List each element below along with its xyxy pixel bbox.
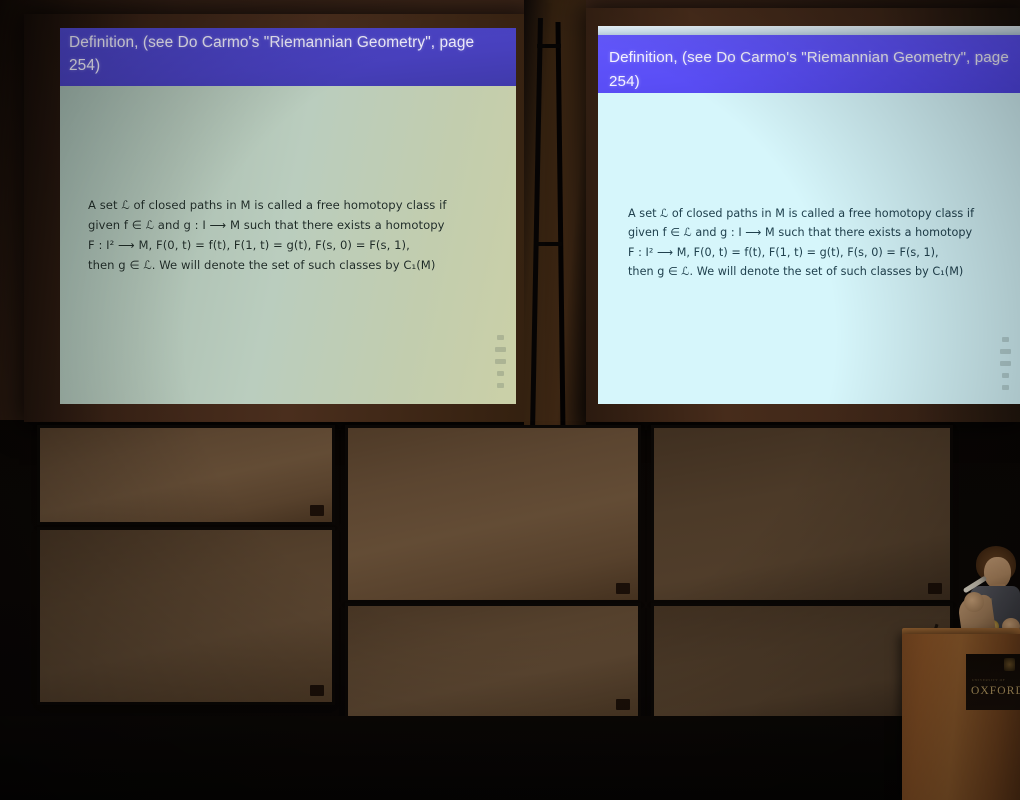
- left-slide-body-line-1: A set ℒ of closed paths in M is called a…: [88, 196, 460, 216]
- last-slide-icon-right[interactable]: [1002, 373, 1009, 378]
- presenter-hand: [964, 592, 984, 612]
- next-slide-icon-right[interactable]: [1000, 361, 1011, 366]
- oxford-sign-word: OXFORD: [971, 685, 1020, 697]
- first-slide-icon[interactable]: [497, 335, 504, 340]
- board-tab-icon: [310, 505, 324, 516]
- prev-slide-icon-right[interactable]: [1000, 349, 1011, 354]
- beamer-logo-icon[interactable]: [497, 383, 504, 388]
- left-slide-body-line-4: then g ∈ ℒ. We will denote the set of su…: [88, 256, 460, 276]
- right-slide-top-strip: [598, 26, 1020, 35]
- right-slide-body: A set ℒ of closed paths in M is called a…: [628, 204, 978, 282]
- left-slide-body: A set ℒ of closed paths in M is called a…: [88, 196, 460, 276]
- left-slide-body-line-3: F : I² ⟶ M, F(0, t) = f(t), F(1, t) = g(…: [88, 236, 460, 256]
- right-slide-body-line-2: given f ∈ ℒ and g : I ⟶ M such that ther…: [628, 223, 978, 242]
- board-center-lower: [348, 606, 638, 716]
- pillar-bracket-bottom: [536, 242, 562, 246]
- center-wall-pillar: [524, 0, 586, 430]
- floor: [0, 716, 1020, 800]
- left-screen-surface: Definition, (see Do Carmo's "Riemannian …: [60, 28, 516, 404]
- right-slide: Definition, (see Do Carmo's "Riemannian …: [598, 26, 1020, 404]
- board-tab-icon: [310, 685, 324, 696]
- board-tab-icon: [616, 583, 630, 594]
- oxford-crest-icon: [1004, 658, 1015, 671]
- left-slide-titlebar: Definition, (see Do Carmo's "Riemannian …: [60, 28, 516, 86]
- next-slide-icon[interactable]: [495, 359, 506, 364]
- left-slide: Definition, (see Do Carmo's "Riemannian …: [60, 28, 516, 404]
- left-slide-title: Definition, (see Do Carmo's "Riemannian …: [69, 31, 499, 78]
- beamer-logo-icon-right[interactable]: [1002, 385, 1009, 390]
- oxford-sign-subtext: UNIVERSITY OF: [972, 678, 1018, 682]
- board-left-upper: [40, 428, 332, 522]
- board-tab-icon: [616, 699, 630, 710]
- right-slide-body-line-1: A set ℒ of closed paths in M is called a…: [628, 204, 978, 223]
- right-screen-frame: Definition, (see Do Carmo's "Riemannian …: [586, 8, 1020, 422]
- right-slide-body-line-4: then g ∈ ℒ. We will denote the set of su…: [628, 262, 978, 281]
- pillar-bracket-top: [537, 44, 561, 48]
- first-slide-icon-right[interactable]: [1002, 337, 1009, 342]
- pillar-edge-left: [530, 18, 543, 430]
- pillar-edge-right: [556, 22, 566, 430]
- right-screen-surface: Definition, (see Do Carmo's "Riemannian …: [598, 26, 1020, 404]
- board-center-upper: [348, 428, 638, 600]
- oxford-sign: UNIVERSITY OF OXFORD: [966, 654, 1020, 710]
- last-slide-icon[interactable]: [497, 371, 504, 376]
- right-slide-body-line-3: F : I² ⟶ M, F(0, t) = f(t), F(1, t) = g(…: [628, 243, 978, 262]
- left-screen-frame: Definition, (see Do Carmo's "Riemannian …: [24, 14, 532, 422]
- board-right-upper: [654, 428, 950, 600]
- lecture-hall-scene: Definition, (see Do Carmo's "Riemannian …: [0, 0, 1020, 800]
- left-slide-body-line-2: given f ∈ ℒ and g : I ⟶ M such that ther…: [88, 216, 460, 236]
- right-slide-nav-icons[interactable]: [1000, 337, 1011, 390]
- board-tab-icon: [928, 583, 942, 594]
- prev-slide-icon[interactable]: [495, 347, 506, 352]
- right-slide-titlebar: Definition, (see Do Carmo's "Riemannian …: [598, 35, 1020, 93]
- right-slide-title: Definition, (see Do Carmo's "Riemannian …: [609, 46, 1013, 93]
- left-slide-nav-icons[interactable]: [495, 335, 506, 388]
- board-left-lower: [40, 530, 332, 702]
